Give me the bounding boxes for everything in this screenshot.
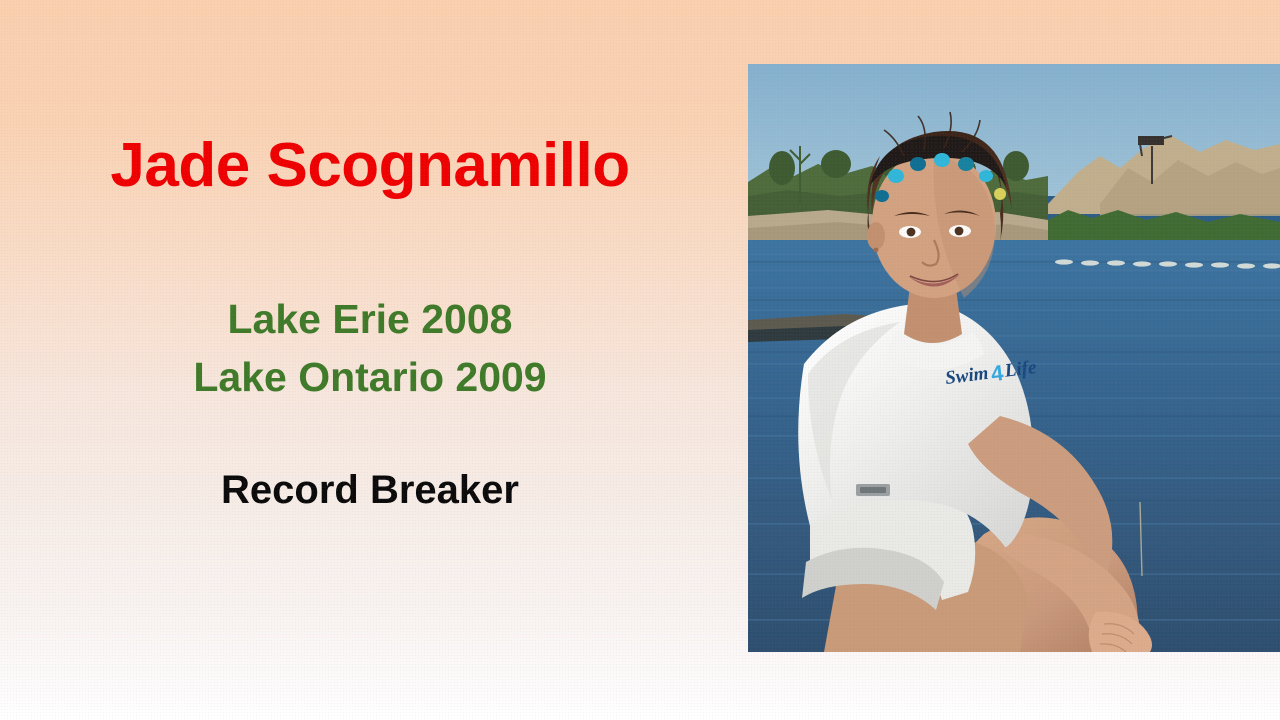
subtitle-line-1: Lake Erie 2008 bbox=[0, 290, 740, 348]
subtitle-line-2: Lake Ontario 2009 bbox=[0, 348, 740, 406]
slide-text-column: Jade Scognamillo Lake Erie 2008 Lake Ont… bbox=[0, 0, 740, 720]
page-title: Jade Scognamillo bbox=[0, 133, 740, 198]
subtitle-block: Lake Erie 2008 Lake Ontario 2009 bbox=[0, 290, 740, 406]
photo-illustration: Swim 4 Life bbox=[748, 64, 1280, 652]
caption-text: Record Breaker bbox=[0, 468, 740, 513]
svg-text:Life: Life bbox=[1003, 357, 1039, 382]
swimmer-photo: Swim 4 Life bbox=[748, 64, 1280, 652]
presentation-slide: Jade Scognamillo Lake Erie 2008 Lake Ont… bbox=[0, 0, 1280, 720]
